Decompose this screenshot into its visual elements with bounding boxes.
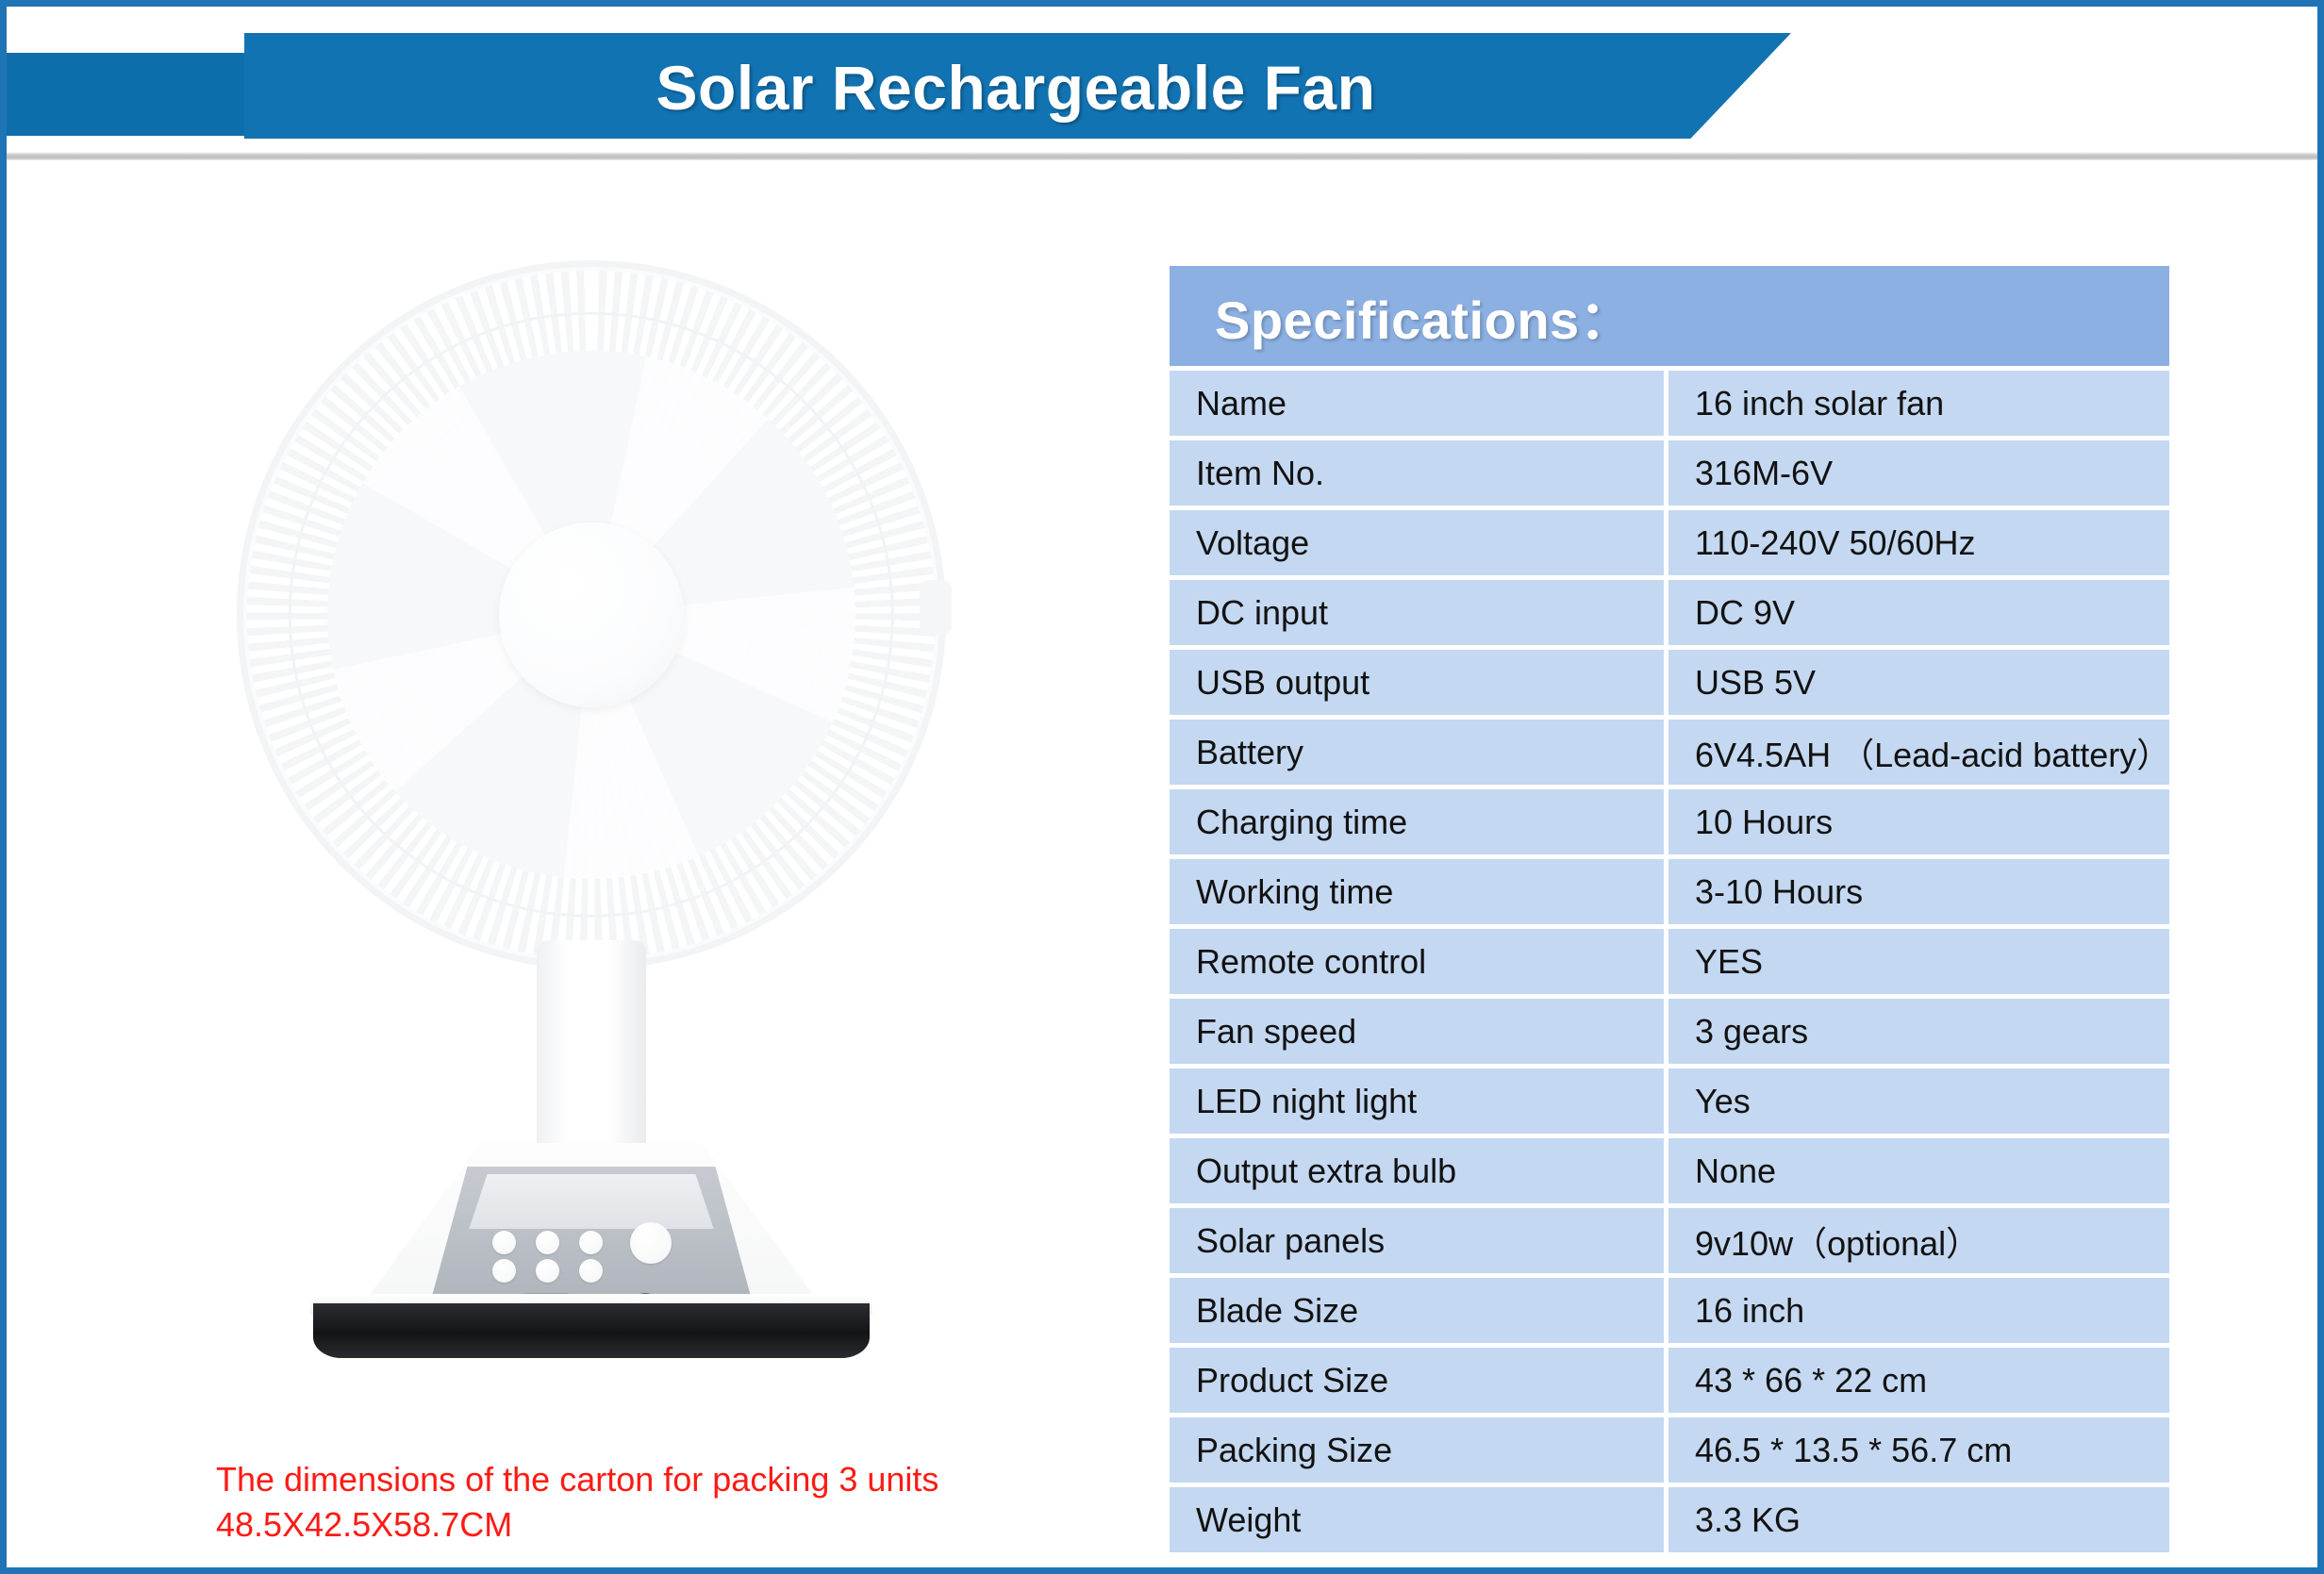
spec-key-cell: Product Size xyxy=(1170,1348,1664,1413)
fan-button-timer[interactable] xyxy=(492,1259,516,1283)
spec-key-text: Product Size xyxy=(1196,1361,1388,1400)
spec-value-text: DC 9V xyxy=(1695,593,1795,633)
spec-key-cell: Charging time xyxy=(1170,789,1664,854)
fan-grille-icon xyxy=(242,266,940,964)
fan-button-light[interactable] xyxy=(536,1259,559,1283)
spec-value-text: None xyxy=(1695,1152,1776,1191)
fan-button-3[interactable] xyxy=(579,1231,603,1254)
fan-control-panel-display xyxy=(461,1174,722,1229)
spec-value-text: YES xyxy=(1695,942,1763,982)
spec-key-cell: Remote control xyxy=(1170,929,1664,994)
spec-key-cell: DC input xyxy=(1170,580,1664,645)
spec-key-cell: Voltage xyxy=(1170,510,1664,575)
spec-value-cell: 316M-6V xyxy=(1668,440,2169,505)
spec-value-text: 46.5 * 13.5 * 56.7 cm xyxy=(1695,1431,2012,1470)
spec-key-text: Output extra bulb xyxy=(1196,1152,1456,1191)
spec-key-text: Weight xyxy=(1196,1500,1301,1540)
spec-value-text: 9v10w（optional） xyxy=(1695,1217,1980,1266)
spec-value-cell: 110-240V 50/60Hz xyxy=(1668,510,2169,575)
spec-value-text: 110-240V 50/60Hz xyxy=(1695,523,1976,563)
fan-speed-button-row-bottom xyxy=(492,1259,603,1283)
spec-value-text: 3-10 Hours xyxy=(1695,872,1863,912)
grille-ring-inner xyxy=(428,452,755,778)
spec-value-cell: 46.5 * 13.5 * 56.7 cm xyxy=(1668,1417,2169,1483)
fan-illustration xyxy=(44,195,1138,1412)
spec-key-text: Item No. xyxy=(1196,454,1324,493)
header-banner: Solar Rechargeable Fan xyxy=(7,7,2317,148)
fan-button-1[interactable] xyxy=(492,1231,516,1254)
spec-value-text: 43 * 66 * 22 cm xyxy=(1695,1361,1927,1400)
product-photo xyxy=(44,195,1138,1412)
table-row: Charging time10 Hours xyxy=(1170,789,2169,854)
spec-key-text: USB output xyxy=(1196,663,1369,703)
table-row: Blade Size16 inch xyxy=(1170,1278,2169,1343)
spec-value-cell: 43 * 66 * 22 cm xyxy=(1668,1348,2169,1413)
fan-side-knob xyxy=(920,580,952,635)
spec-value-text: 6V4.5AH （Lead-acid battery） xyxy=(1695,728,2170,777)
spec-key-cell: Working time xyxy=(1170,859,1664,924)
table-row: Product Size43 * 66 * 22 cm xyxy=(1170,1348,2169,1413)
spec-value-text: USB 5V xyxy=(1695,663,1816,703)
spec-key-cell: Solar panels xyxy=(1170,1208,1664,1273)
table-row: Name16 inch solar fan xyxy=(1170,371,2169,436)
table-row: Remote controlYES xyxy=(1170,929,2169,994)
table-row: Solar panels9v10w（optional） xyxy=(1170,1208,2169,1273)
fan-button-power[interactable] xyxy=(630,1222,672,1264)
spec-key-text: Fan speed xyxy=(1196,1012,1356,1052)
spec-value-text: 16 inch solar fan xyxy=(1695,384,1944,423)
spec-key-text: Remote control xyxy=(1196,942,1426,982)
spec-key-cell: Output extra bulb xyxy=(1170,1138,1664,1203)
specifications-rows: Name16 inch solar fanItem No.316M-6VVolt… xyxy=(1170,371,2169,1552)
spec-key-text: LED night light xyxy=(1196,1082,1417,1121)
table-row: DC inputDC 9V xyxy=(1170,580,2169,645)
page-title: Solar Rechargeable Fan xyxy=(422,42,1610,133)
carton-note-line-2: 48.5X42.5X58.7CM xyxy=(216,1502,1140,1548)
table-row: Packing Size46.5 * 13.5 * 56.7 cm xyxy=(1170,1417,2169,1483)
spec-key-cell: Battery xyxy=(1170,720,1664,785)
fan-button-2[interactable] xyxy=(536,1231,559,1254)
spec-key-text: Blade Size xyxy=(1196,1291,1358,1331)
spec-key-text: Packing Size xyxy=(1196,1431,1392,1470)
spec-value-cell: 6V4.5AH （Lead-acid battery） xyxy=(1668,720,2169,785)
spec-value-cell: Yes xyxy=(1668,1069,2169,1134)
spec-key-text: Charging time xyxy=(1196,803,1407,842)
spec-value-text: 316M-6V xyxy=(1695,454,1833,493)
spec-key-cell: LED night light xyxy=(1170,1069,1664,1134)
spec-key-cell: Weight xyxy=(1170,1487,1664,1552)
spec-key-cell: Packing Size xyxy=(1170,1417,1664,1483)
spec-value-cell: 16 inch xyxy=(1668,1278,2169,1343)
spec-value-text: Yes xyxy=(1695,1082,1751,1121)
spec-key-text: Battery xyxy=(1196,733,1303,772)
fan-blades-icon xyxy=(327,351,855,879)
spec-key-text: Working time xyxy=(1196,872,1393,912)
spec-value-cell: 9v10w（optional） xyxy=(1668,1208,2169,1273)
header-divider xyxy=(7,152,2317,160)
table-row: Fan speed3 gears xyxy=(1170,999,2169,1064)
table-row: Output extra bulbNone xyxy=(1170,1138,2169,1203)
grille-ring-middle xyxy=(358,382,824,848)
spec-value-text: 10 Hours xyxy=(1695,803,1833,842)
carton-note-line-1: The dimensions of the carton for packing… xyxy=(216,1457,1140,1502)
table-row: Voltage110-240V 50/60Hz xyxy=(1170,510,2169,575)
table-row: Working time3-10 Hours xyxy=(1170,859,2169,924)
spec-key-cell: Blade Size xyxy=(1170,1278,1664,1343)
spec-value-cell: 10 Hours xyxy=(1668,789,2169,854)
table-row: Weight3.3 KG xyxy=(1170,1487,2169,1552)
specifications-title: Specifications： xyxy=(1215,278,1633,355)
specifications-table: Specifications： Name16 inch solar fanIte… xyxy=(1170,266,2169,1552)
spec-value-cell: None xyxy=(1668,1138,2169,1203)
spec-key-text: Voltage xyxy=(1196,523,1309,563)
spec-key-text: Solar panels xyxy=(1196,1221,1385,1261)
fan-neck xyxy=(537,940,646,1162)
spec-key-cell: Fan speed xyxy=(1170,999,1664,1064)
spec-key-text: Name xyxy=(1196,384,1286,423)
spec-value-cell: 3-10 Hours xyxy=(1668,859,2169,924)
spec-key-text: DC input xyxy=(1196,593,1328,633)
spec-value-cell: DC 9V xyxy=(1668,580,2169,645)
spec-value-cell: 3.3 KG xyxy=(1668,1487,2169,1552)
table-row: Item No.316M-6V xyxy=(1170,440,2169,505)
carton-dimensions-note: The dimensions of the carton for packing… xyxy=(216,1457,1140,1547)
specifications-table-header: Specifications： xyxy=(1170,266,2169,366)
spec-key-cell: Item No. xyxy=(1170,440,1664,505)
spec-value-cell: 16 inch solar fan xyxy=(1668,371,2169,436)
spec-value-text: 16 inch xyxy=(1695,1291,1804,1331)
spec-value-cell: 3 gears xyxy=(1668,999,2169,1064)
spec-key-cell: USB output xyxy=(1170,650,1664,715)
spec-value-cell: YES xyxy=(1668,929,2169,994)
table-row: USB outputUSB 5V xyxy=(1170,650,2169,715)
fan-hub xyxy=(499,522,684,707)
spec-value-text: 3 gears xyxy=(1695,1012,1808,1052)
product-spec-page: Solar Rechargeable Fan xyxy=(0,0,2324,1574)
spec-key-cell: Name xyxy=(1170,371,1664,436)
spec-value-text: 3.3 KG xyxy=(1695,1500,1801,1540)
table-row: Battery6V4.5AH （Lead-acid battery） xyxy=(1170,720,2169,785)
grille-ring-outer xyxy=(289,312,894,918)
fan-button-swing[interactable] xyxy=(579,1259,603,1283)
spec-value-cell: USB 5V xyxy=(1668,650,2169,715)
fan-base-foot xyxy=(313,1303,870,1358)
table-row: LED night lightYes xyxy=(1170,1069,2169,1134)
